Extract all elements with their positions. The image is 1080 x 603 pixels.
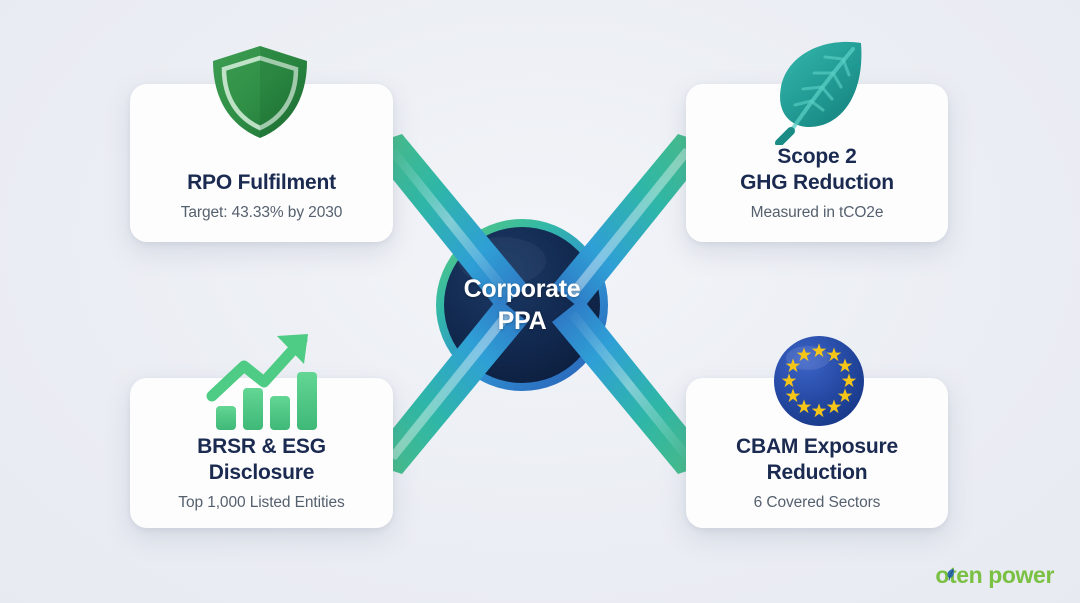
card-subtitle: Measured in tCO2e <box>751 203 884 222</box>
card-title: RPO Fulfilment <box>187 170 336 196</box>
brand-logo: o ten power <box>935 562 1054 589</box>
card-scope-2-ghg-reduction[interactable]: Scope 2 GHG Reduction Measured in tCO2e <box>686 84 948 242</box>
logo-leaf-icon <box>946 568 955 581</box>
hub-label-line2: PPA <box>498 305 547 337</box>
card-title: CBAM Exposure Reduction <box>736 434 898 486</box>
card-subtitle: Target: 43.33% by 2030 <box>181 203 343 222</box>
card-title: Scope 2 GHG Reduction <box>740 144 894 196</box>
card-subtitle: 6 Covered Sectors <box>754 493 881 512</box>
card-brsr-esg-disclosure[interactable]: BRSR & ESG Disclosure Top 1,000 Listed E… <box>130 378 393 528</box>
diagram-canvas: Corporate PPA RPO Fulfilment Target: 43.… <box>0 0 1080 603</box>
hub-label: Corporate PPA <box>432 215 612 395</box>
card-subtitle: Top 1,000 Listed Entities <box>178 493 344 512</box>
card-title: BRSR & ESG Disclosure <box>197 434 326 486</box>
hub-label-line1: Corporate <box>464 273 581 305</box>
card-rpo-fulfilment[interactable]: RPO Fulfilment Target: 43.33% by 2030 <box>130 84 393 242</box>
card-cbam-exposure-reduction[interactable]: CBAM Exposure Reduction 6 Covered Sector… <box>686 378 948 528</box>
brand-logo-text-after: ten power <box>949 562 1054 589</box>
brand-logo-mark: o <box>935 562 949 589</box>
